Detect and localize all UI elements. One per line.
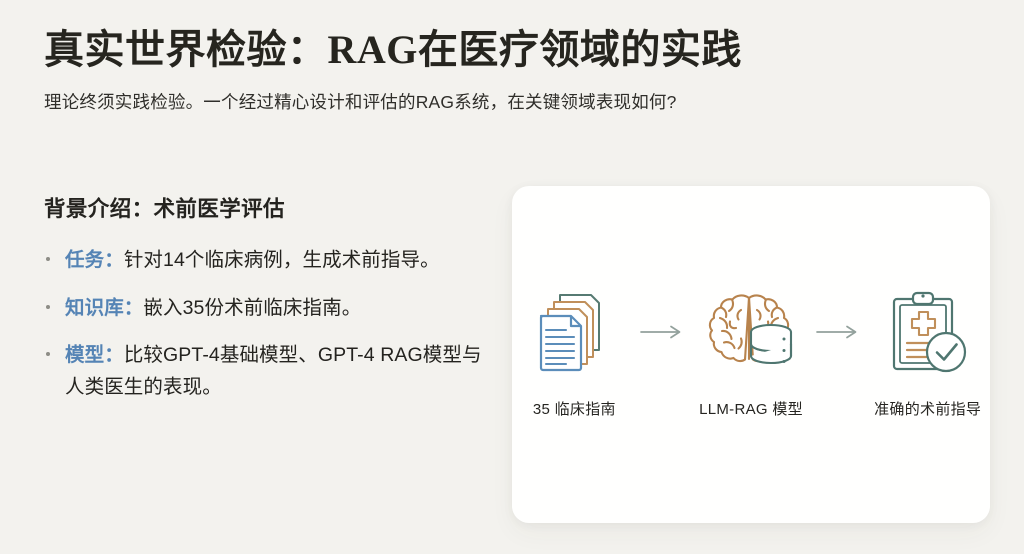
- list-item: 知识库：嵌入35份术前临床指南。: [44, 293, 489, 325]
- bullet-dot-icon: [46, 257, 50, 261]
- flow-step-llm-rag: LLM-RAG 模型: [689, 280, 814, 419]
- page-title: 真实世界检验：RAG在医疗领域的实践: [44, 26, 984, 73]
- background-section: 背景介绍：术前医学评估 任务：针对14个临床病例，生成术前指导。 知识库：嵌入3…: [44, 192, 489, 403]
- pipeline-flow: 35 临床指南: [512, 280, 990, 419]
- diagram-card: 35 临床指南: [512, 186, 990, 523]
- list-item: 任务：针对14个临床病例，生成术前指导。: [44, 245, 489, 277]
- list-item: 模型：比较GPT-4基础模型、GPT-4 RAG模型与人类医生的表现。: [44, 340, 489, 403]
- bullet-text: 嵌入35份术前临床指南。: [143, 297, 361, 319]
- flow-step-label: LLM-RAG 模型: [699, 398, 803, 419]
- section-heading: 背景介绍：术前医学评估: [44, 192, 489, 223]
- documents-stack-icon: [533, 280, 615, 384]
- flow-step-label: 准确的术前指导: [874, 398, 981, 419]
- flow-step-guidelines: 35 临床指南: [512, 280, 637, 419]
- bullet-text: 针对14个临床病例，生成术前指导。: [124, 249, 440, 271]
- bullet-dot-icon: [46, 305, 50, 309]
- brain-database-icon: [705, 280, 797, 384]
- bullet-dot-icon: [46, 352, 50, 356]
- arrow-right-icon: [637, 280, 689, 384]
- arrow-right-icon: [813, 280, 865, 384]
- flow-step-label: 35 临床指南: [533, 398, 616, 419]
- slide-canvas: 真实世界检验：RAG在医疗领域的实践 理论终须实践检验。一个经过精心设计和评估的…: [0, 0, 1024, 554]
- bullet-label: 模型：: [65, 344, 124, 366]
- bullet-text: 比较GPT-4基础模型、GPT-4 RAG模型与人类医生的表现。: [65, 344, 482, 398]
- flow-step-guidance: 准确的术前指导: [865, 280, 990, 419]
- slide-header: 真实世界检验：RAG在医疗领域的实践 理论终须实践检验。一个经过精心设计和评估的…: [44, 26, 984, 116]
- page-subtitle: 理论终须实践检验。一个经过精心设计和评估的RAG系统，在关键领域表现如何?: [44, 90, 984, 115]
- bullet-label: 任务：: [65, 249, 124, 271]
- clipboard-check-icon: [884, 280, 972, 384]
- bullet-label: 知识库：: [65, 297, 143, 319]
- bullet-list: 任务：针对14个临床病例，生成术前指导。 知识库：嵌入35份术前临床指南。 模型…: [44, 245, 489, 403]
